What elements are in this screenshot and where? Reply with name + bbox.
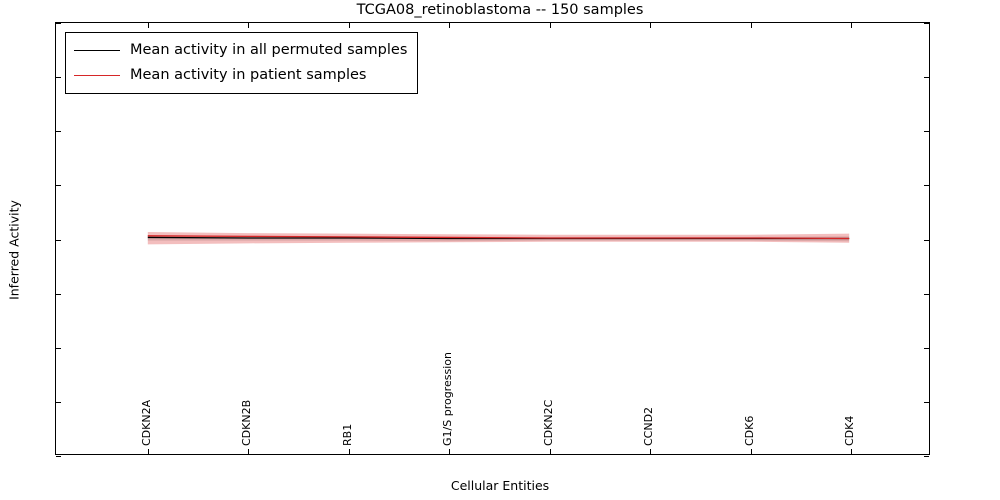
y-tick-mark xyxy=(56,456,61,457)
legend-line-patient xyxy=(74,75,120,76)
legend-label-patient: Mean activity in patient samples xyxy=(130,68,366,83)
plot-area: −4−3−2−101234 CDKN2ACDKN2BRB1G1/S progre… xyxy=(55,22,930,455)
legend-label-permuted: Mean activity in all permuted samples xyxy=(130,43,407,58)
y-tick-mark xyxy=(924,456,929,457)
chart-title: TCGA08_retinoblastoma -- 150 samples xyxy=(0,2,1000,18)
figure: TCGA08_retinoblastoma -- 150 samples Inf… xyxy=(0,0,1000,500)
legend-line-permuted xyxy=(74,50,120,51)
x-axis-label: Cellular Entities xyxy=(0,478,1000,493)
y-axis-label: Inferred Activity xyxy=(6,200,21,300)
legend-entry-patient: Mean activity in patient samples xyxy=(74,63,407,88)
legend: Mean activity in all permuted samples Me… xyxy=(65,32,418,94)
legend-entry-permuted: Mean activity in all permuted samples xyxy=(74,38,407,63)
